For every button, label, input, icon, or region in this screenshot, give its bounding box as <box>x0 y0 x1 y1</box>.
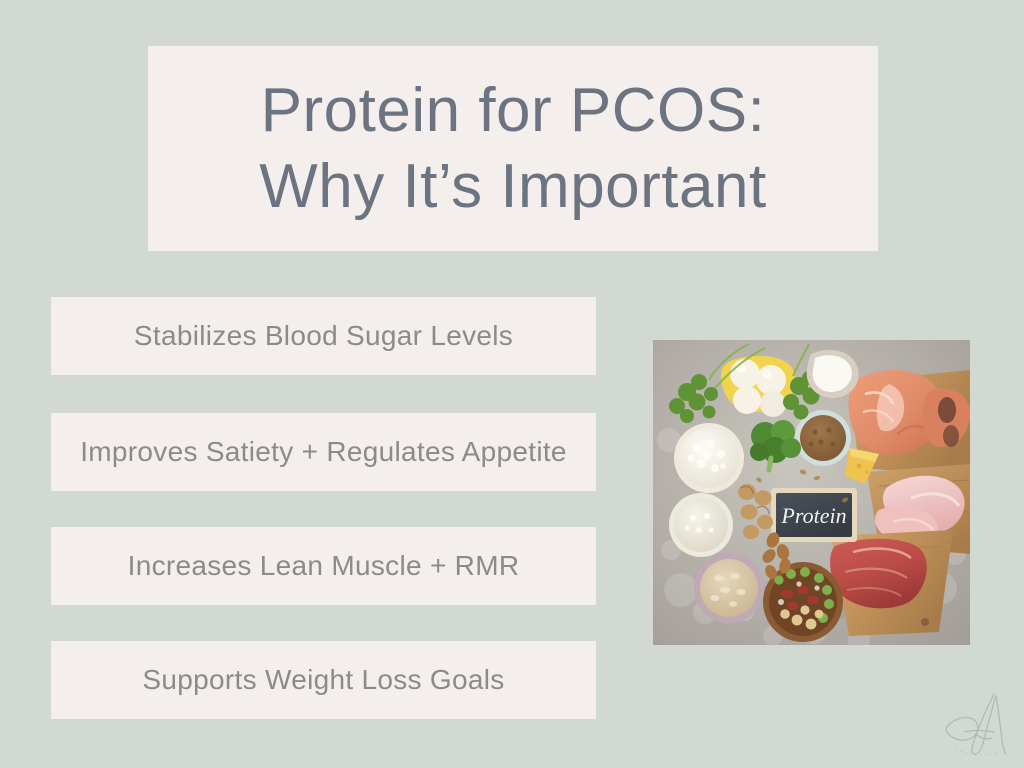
chalkboard-text: Protein <box>780 503 846 528</box>
monogram-a-icon <box>936 686 1016 762</box>
slide-canvas: Protein for PCOS: Why It’s Important Sta… <box>0 0 1024 768</box>
page-title-line-2: Why It’s Important <box>259 149 766 225</box>
title-card: Protein for PCOS: Why It’s Important <box>148 46 878 251</box>
benefit-card-1: Stabilizes Blood Sugar Levels <box>51 297 596 375</box>
protein-foods-illustration: Protein <box>653 340 970 645</box>
rice-bowl <box>669 493 733 557</box>
benefit-label-1: Stabilizes Blood Sugar Levels <box>134 320 513 352</box>
benefit-card-2: Improves Satiety + Regulates Appetite <box>51 413 596 491</box>
cottage-cheese-bowl <box>674 423 744 493</box>
benefit-label-4: Supports Weight Loss Goals <box>142 664 504 696</box>
chalkboard-sign: Protein <box>771 488 857 542</box>
coconut <box>807 350 859 398</box>
protein-foods-photo: Protein <box>653 340 970 645</box>
brand-logo-watermark <box>936 686 1016 762</box>
oats-bowl <box>694 553 764 623</box>
benefit-card-3: Increases Lean Muscle + RMR <box>51 527 596 605</box>
benefit-card-4: Supports Weight Loss Goals <box>51 641 596 719</box>
benefit-label-3: Increases Lean Muscle + RMR <box>128 550 520 582</box>
page-title-line-1: Protein for PCOS: <box>261 73 766 149</box>
benefit-label-2: Improves Satiety + Regulates Appetite <box>80 436 567 468</box>
